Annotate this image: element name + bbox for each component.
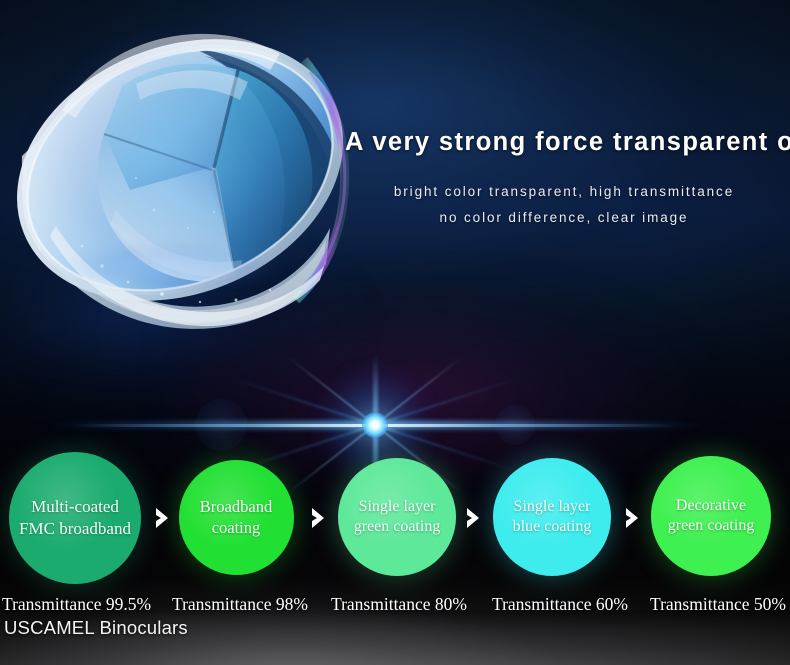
page-headline: A very strong force transparent of lens [345,128,783,157]
coating-bubble-label-1: Multi-coatedFMC broadband [13,496,137,540]
chevron-right-icon-3 [464,505,484,531]
coating-bubble-label-4: Single layerblue coating [507,497,598,538]
coating-bubble-2[interactable]: Broadbandcoating [179,460,294,575]
brand-label: USCAMEL Binoculars [4,617,188,639]
coating-bubble-label-2: Broadbandcoating [194,496,278,538]
chevron-right-icon-4 [623,505,643,531]
coating-bubble-4[interactable]: Single layerblue coating [493,458,611,576]
coating-bubble-label-5: Decorativegreen coating [662,496,761,537]
transmittance-label-3: Transmittance 80% [331,594,467,615]
chevron-right-icon-2 [309,505,329,531]
transmittance-label-1: Transmittance 99.5% [2,594,151,615]
coating-bubble-label-line2-3: green coating [354,517,441,537]
page-subline-1: bright color transparent, high transmitt… [345,184,783,199]
transmittance-label-5: Transmittance 50% [650,594,786,615]
coating-bubble-label-line1-4: Single layer [513,497,592,517]
coating-bubble-label-line1-3: Single layer [354,497,441,517]
coating-bubble-label-line1-2: Broadband [200,496,272,517]
flare-core [362,412,388,438]
coating-bubble-label-line1-1: Multi-coated [19,496,131,518]
coating-bubble-label-line2-5: green coating [668,516,755,536]
coating-bubble-label-line1-5: Decorative [668,496,755,516]
lens-ambient-glow [0,0,378,374]
coating-bubble-label-3: Single layergreen coating [348,497,447,538]
lens-table-reflection [32,213,322,282]
page-subline-2: no color difference, clear image [345,210,783,225]
coating-bubble-3[interactable]: Single layergreen coating [338,458,456,576]
chevron-right-icon-1 [153,505,173,531]
coating-bubble-label-line2-4: blue coating [513,517,592,537]
coating-bubble-1[interactable]: Multi-coatedFMC broadband [9,452,141,584]
poster-root: A very strong force transparent of lens … [0,0,790,665]
transmittance-label-2: Transmittance 98% [172,594,308,615]
product-lens-image [4,14,354,344]
transmittance-label-4: Transmittance 60% [492,594,628,615]
coating-bubble-label-line2-1: FMC broadband [19,518,131,540]
coating-bubble-label-line2-2: coating [200,517,272,538]
coating-bubble-5[interactable]: Decorativegreen coating [651,456,771,576]
